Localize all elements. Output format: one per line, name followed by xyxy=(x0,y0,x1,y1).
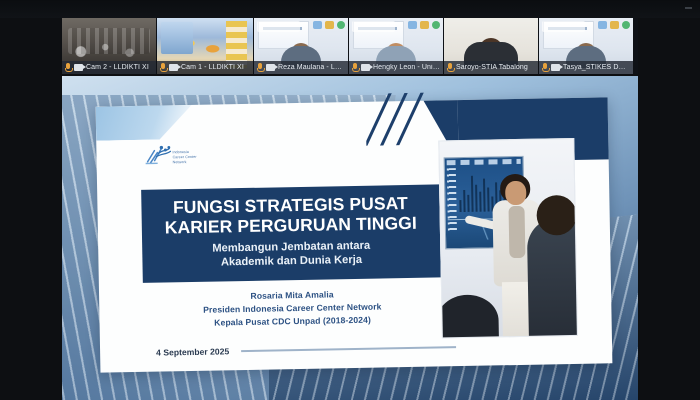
chart-bar xyxy=(471,175,474,212)
participant-name-bar: Hengky Leon - Univ ... xyxy=(349,61,443,74)
participant-name: Hengky Leon - Univ ... xyxy=(373,64,440,71)
check-circle-icon xyxy=(337,21,345,29)
participant-name-bar: Cam 1 - LLDIKTI XI xyxy=(157,61,253,74)
camera-icon xyxy=(361,64,370,71)
audience-head-right xyxy=(536,195,577,236)
chart-toolbar xyxy=(447,159,521,165)
slide-white-card: Indonesia Career Center Network FUNGSI S… xyxy=(96,97,613,372)
participant-thumbnail[interactable]: Cam 2 - LLDIKTI XI xyxy=(62,18,156,74)
iccn-logo: Indonesia Career Center Network xyxy=(142,141,209,172)
person-icon xyxy=(313,21,322,29)
presenter-blouse xyxy=(508,206,525,258)
thumbnail-status-icons xyxy=(408,21,440,29)
chart-bar xyxy=(479,192,482,212)
shared-screen-slide: Indonesia Career Center Network FUNGSI S… xyxy=(62,76,638,400)
thumbnail-status-icons xyxy=(313,21,345,29)
window-control-dot xyxy=(685,7,692,9)
slide-subtitle-line1: Membangun Jembatan antara xyxy=(212,240,370,255)
diagonal-stripes-decoration xyxy=(365,92,440,145)
thumbnail-title-tag xyxy=(542,21,585,32)
microphone-muted-icon xyxy=(65,63,71,72)
participant-thumbnail-active-speaker[interactable]: Cam 1 - LLDIKTI XI xyxy=(157,18,253,74)
camera-icon xyxy=(74,64,83,71)
camera-icon xyxy=(551,64,560,71)
microphone-muted-icon xyxy=(542,63,548,72)
person-icon xyxy=(598,21,607,29)
microphone-muted-icon xyxy=(447,63,453,72)
presenter-info: Rosaria Mita Amalia Presiden Indonesia C… xyxy=(143,286,442,331)
participant-thumbnail[interactable]: Hengky Leon - Univ ... xyxy=(349,18,443,74)
chart-bar xyxy=(463,190,466,212)
camera-icon xyxy=(266,64,275,71)
participant-name-bar: Tasya_STIKES DARUL... xyxy=(539,61,633,74)
slide-date-row: 4 September 2025 xyxy=(156,342,456,357)
hand-icon xyxy=(420,21,429,29)
participant-thumbnail[interactable]: Tasya_STIKES DARUL... xyxy=(539,18,633,74)
blue-wedge-decoration xyxy=(96,105,193,141)
presenter-photo xyxy=(438,138,578,338)
participant-thumbnail[interactable]: Reza Maulana - LBS .. xyxy=(254,18,348,74)
participant-name: Cam 1 - LLDIKTI XI xyxy=(181,64,244,71)
chart-bar xyxy=(475,185,478,212)
app-top-bar xyxy=(0,0,700,18)
thumbnail-title-tag xyxy=(257,21,300,32)
participant-name: Saroyo-STIA Tabalong xyxy=(456,64,528,71)
participant-name-bar: Cam 2 - LLDIKTI XI xyxy=(62,61,156,74)
logo-wordmark: Indonesia Career Center Network xyxy=(172,150,196,166)
slide-title-line2: KARIER PERGURUAN TINGGI xyxy=(165,212,417,237)
slide-subtitle: Membangun Jembatan antara Akademik dan D… xyxy=(152,239,430,271)
slide-title-block: FUNGSI STRATEGIS PUSAT KARIER PERGURUAN … xyxy=(141,184,441,282)
hand-icon xyxy=(610,21,619,29)
slide-date: 4 September 2025 xyxy=(156,346,229,357)
audience-figure-right xyxy=(527,217,578,339)
chart-bar xyxy=(467,195,470,212)
participant-thumbnail[interactable]: Saroyo-STIA Tabalong xyxy=(444,18,538,74)
person-icon xyxy=(408,21,417,29)
check-circle-icon xyxy=(432,21,440,29)
horizontal-rule xyxy=(241,346,456,352)
thumbnail-status-icons xyxy=(598,21,630,29)
participant-name: Tasya_STIKES DARUL... xyxy=(563,64,630,71)
microphone-muted-icon xyxy=(257,63,263,72)
participant-name: Cam 2 - LLDIKTI XI xyxy=(86,64,149,71)
participant-name-bar: Saroyo-STIA Tabalong xyxy=(444,61,538,74)
camera-icon xyxy=(169,64,178,71)
microphone-muted-icon xyxy=(160,63,166,72)
slide-subtitle-line2: Akademik dan Dunia Kerja xyxy=(221,254,362,269)
hand-icon xyxy=(325,21,334,29)
chart-bar xyxy=(459,200,462,212)
slide-title: FUNGSI STRATEGIS PUSAT KARIER PERGURUAN … xyxy=(151,194,430,238)
participant-name-bar: Reza Maulana - LBS .. xyxy=(254,61,348,74)
thumbnail-title-tag xyxy=(352,21,395,32)
participant-filmstrip[interactable]: Cam 2 - LLDIKTI XI Cam 1 - LLDIKTI XI xyxy=(62,18,638,74)
participant-name: Reza Maulana - LBS .. xyxy=(278,64,345,71)
check-circle-icon xyxy=(622,21,630,29)
presenter-face xyxy=(505,181,526,205)
microphone-muted-icon xyxy=(352,63,358,72)
screen-capture-stage: Cam 2 - LLDIKTI XI Cam 1 - LLDIKTI XI xyxy=(0,0,700,400)
